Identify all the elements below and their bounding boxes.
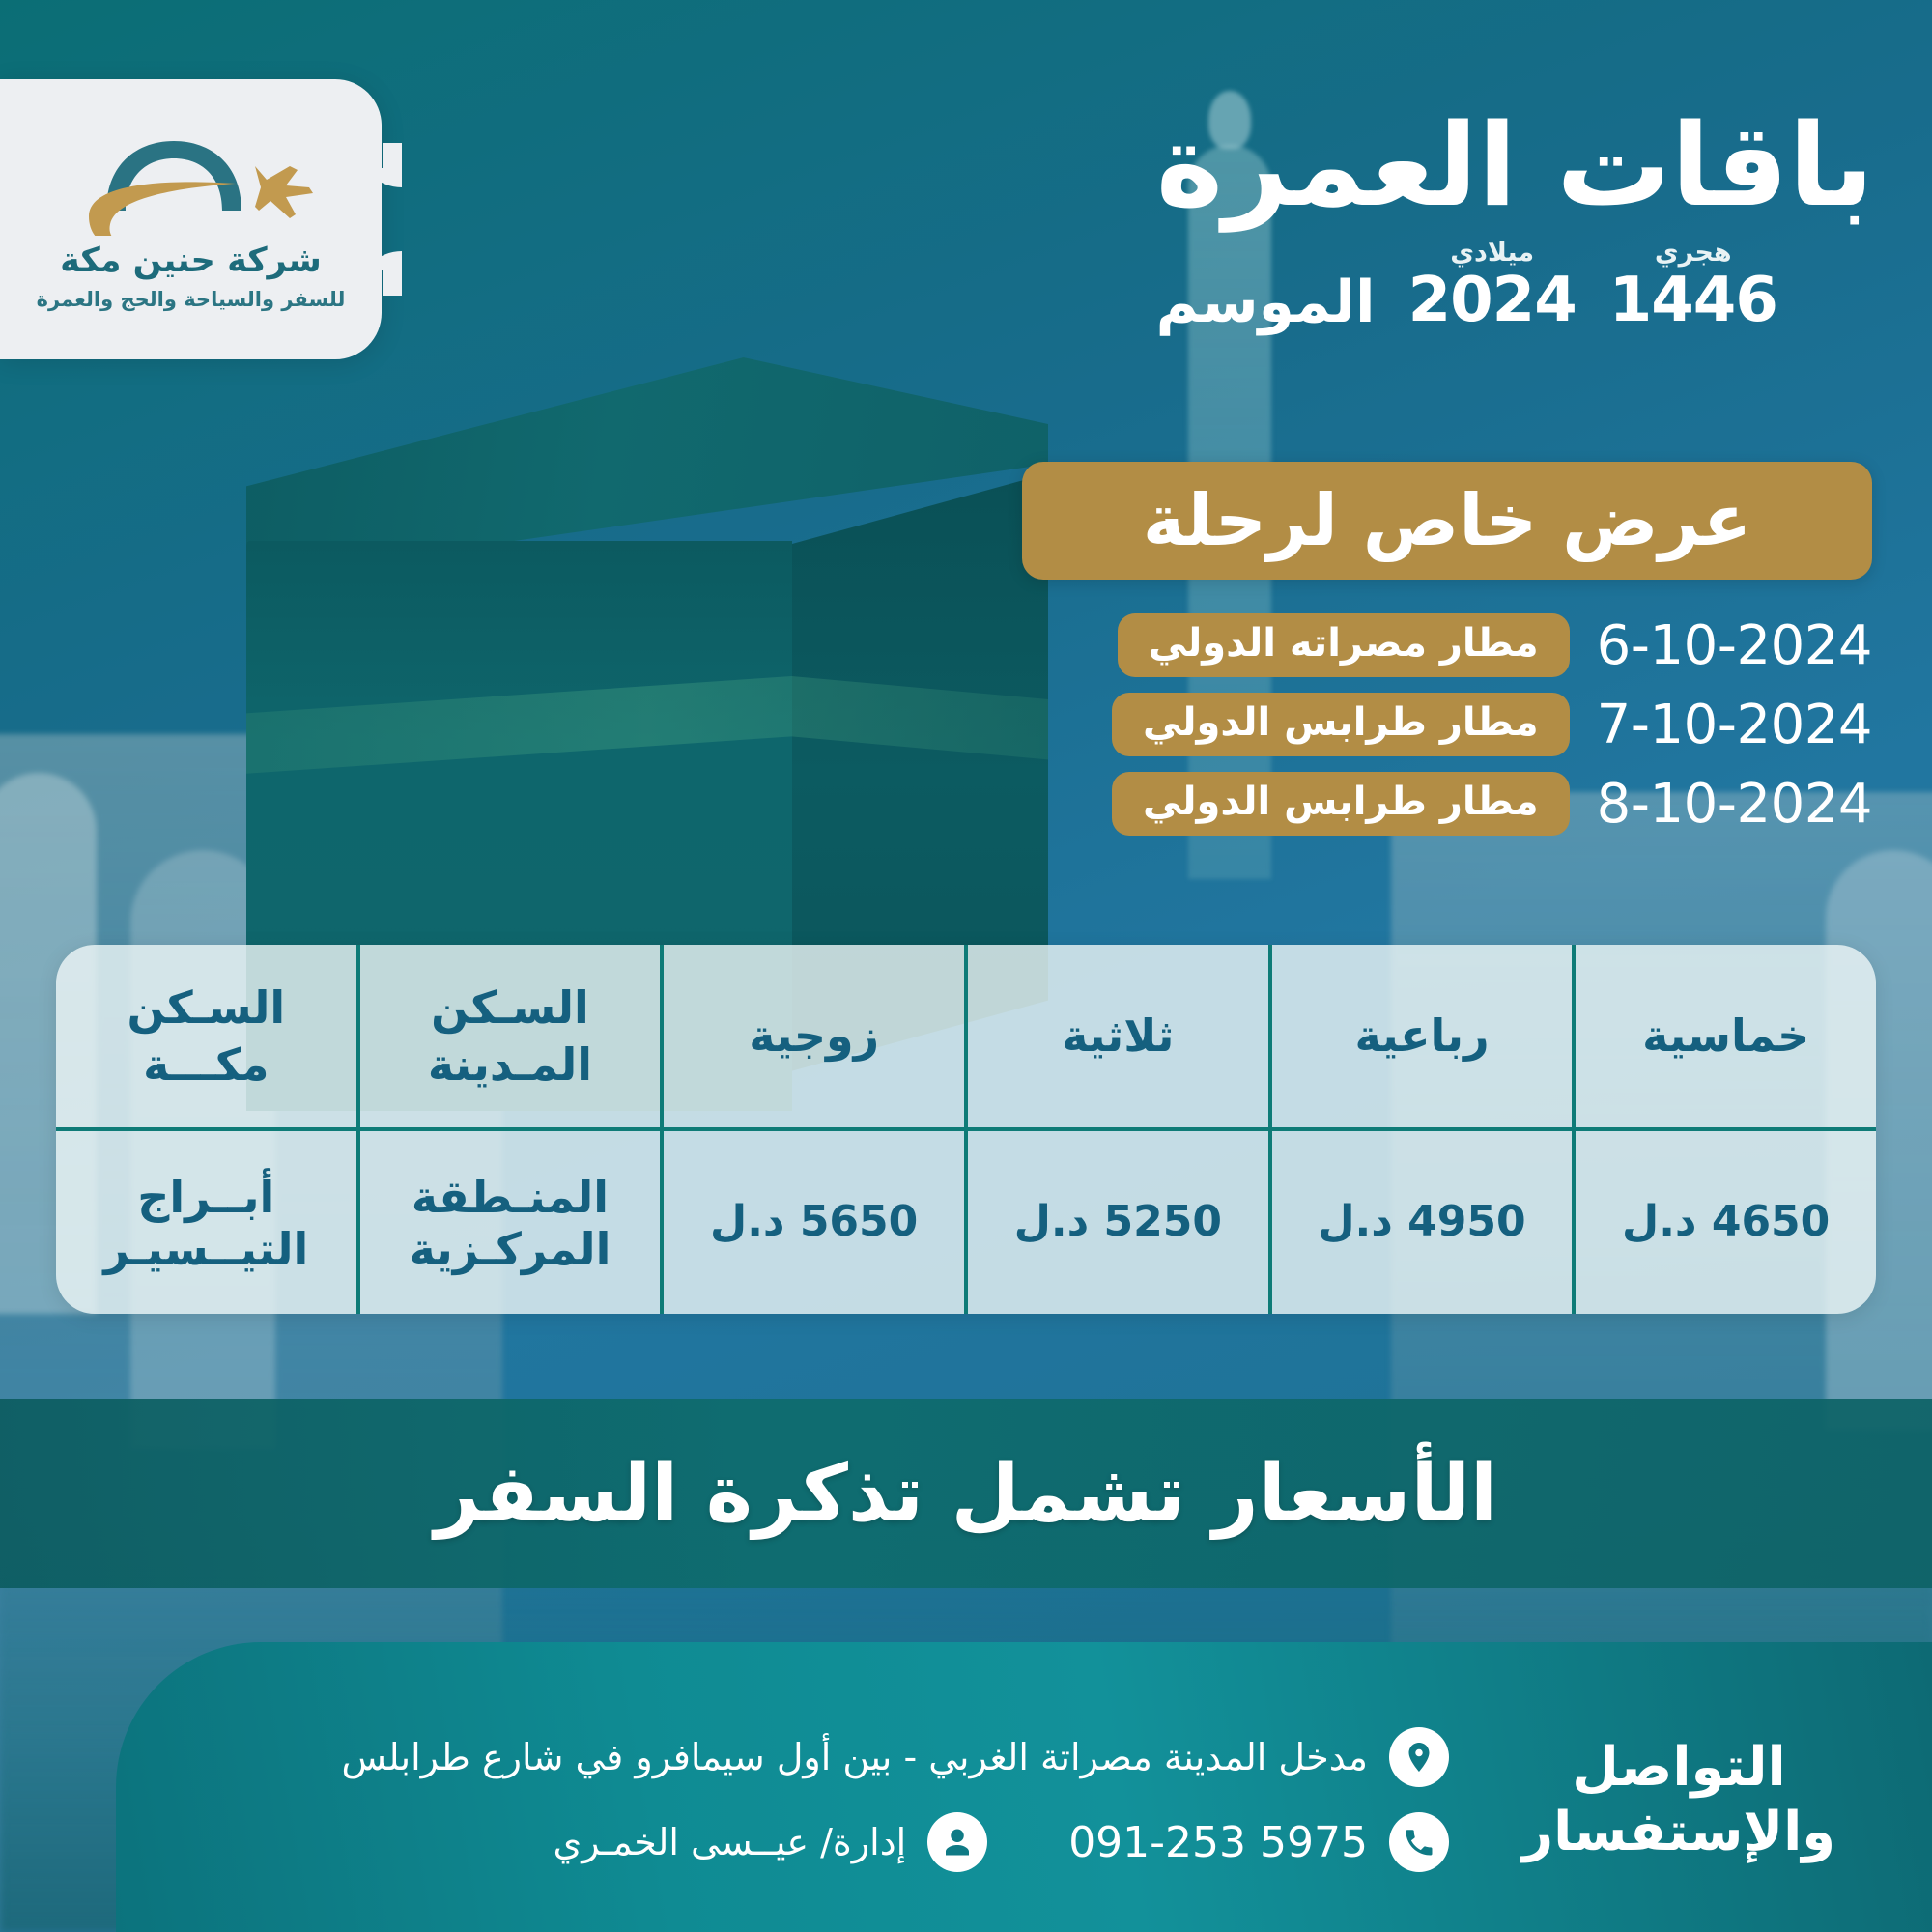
table-row: 4650 د.ل 4950 د.ل 5250 د.ل 5650 د.ل المن… [56, 1131, 1876, 1314]
flight-date: 7-10-2024 [1597, 694, 1872, 756]
price-includes-text: الأسعار تشمل تذكرة السفر [435, 1448, 1497, 1540]
phone-number[interactable]: 091-253 5975 [1068, 1818, 1368, 1867]
flight-airport: مطار طرابس الدولي [1112, 693, 1570, 756]
header-double: زوجية [660, 945, 964, 1127]
flight-airport: مطار طرابس الدولي [1112, 772, 1570, 836]
hijri-caption: هجري [1609, 240, 1777, 266]
price-quadruple: 4950 د.ل [1268, 1131, 1573, 1314]
address-line: مدخل المدينة مصراتة الغربي - بين أول سيم… [342, 1727, 1449, 1787]
company-logo-card: شركة حنين مكة للسفر والسياحة والحج والعم… [0, 79, 382, 359]
flight-row: 6-10-2024 مطار مصراته الدولي [1112, 613, 1872, 677]
season-row: هجري 1446 ميلادي 2024 الموسم [1156, 240, 1874, 331]
price-double: 5650 د.ل [660, 1131, 964, 1314]
poster-canvas: شركة حنين مكة للسفر والسياحة والحج والعم… [0, 0, 1932, 1932]
manager-name: إدارة/ عيــسى الخمـري [553, 1821, 906, 1863]
flight-airport: مطار مصراته الدولي [1118, 613, 1570, 677]
page-title: باقات العمرة [1156, 106, 1874, 226]
hijri-year: 1446 [1609, 265, 1777, 336]
company-name: شركة حنين مكة [60, 241, 322, 280]
gregorian-caption: ميلادي [1408, 240, 1577, 266]
contact-title-line2: والإستفسار [1486, 1800, 1872, 1864]
location-pin-icon [1389, 1727, 1449, 1787]
hijri-year-block: هجري 1446 [1609, 240, 1777, 331]
table-header-row: خماسية رباعية ثلاثية زوجية السـكن المـدي… [56, 945, 1876, 1131]
contact-title: التواصل والإستفسار [1486, 1735, 1872, 1864]
header-quintuple: خماسية [1572, 945, 1876, 1127]
header-quadruple: رباعية [1268, 945, 1573, 1127]
address-text: مدخل المدينة مصراتة الغربي - بين أول سيم… [342, 1736, 1368, 1778]
flight-dates-list: 6-10-2024 مطار مصراته الدولي 7-10-2024 م… [1112, 613, 1872, 836]
special-offer-text: عرض خاص لرحلة [1143, 479, 1752, 562]
gregorian-year-block: ميلادي 2024 [1408, 240, 1577, 331]
pricing-table: خماسية رباعية ثلاثية زوجية السـكن المـدي… [56, 945, 1876, 1314]
flight-row: 7-10-2024 مطار طرابس الدولي [1112, 693, 1872, 756]
header-triple: ثلاثية [964, 945, 1268, 1127]
flight-row: 8-10-2024 مطار طرابس الدولي [1112, 772, 1872, 836]
price-includes-banner: الأسعار تشمل تذكرة السفر [0, 1399, 1932, 1588]
phone-and-manager-line: 091-253 5975 إدارة/ عيــسى الخمـري [553, 1812, 1449, 1872]
medina-housing-value: المنـطقة المركـزية [356, 1131, 661, 1314]
season-label: الموسم [1156, 273, 1376, 331]
header-medina-housing: السـكن المـدينة [356, 945, 661, 1127]
mecca-housing-value: أبــراج التيــسيـر [56, 1131, 356, 1314]
price-triple: 5250 د.ل [964, 1131, 1268, 1314]
price-quintuple: 4650 د.ل [1572, 1131, 1876, 1314]
gregorian-year: 2024 [1408, 265, 1577, 336]
phone-icon[interactable] [1389, 1812, 1449, 1872]
contact-details: مدخل المدينة مصراتة الغربي - بين أول سيم… [342, 1727, 1449, 1872]
header-mecca-housing: السـكن مكـــة [56, 945, 356, 1127]
flight-date: 8-10-2024 [1597, 773, 1872, 836]
person-icon [927, 1812, 987, 1872]
dome-airplane-icon [66, 128, 317, 236]
contact-title-line1: التواصل [1486, 1735, 1872, 1800]
header-block: باقات العمرة هجري 1446 ميلادي 2024 الموس… [1156, 106, 1874, 331]
special-offer-banner: عرض خاص لرحلة [1022, 462, 1872, 580]
company-tagline: للسفر والسياحة والحج والعمرة [37, 288, 346, 311]
flight-date: 6-10-2024 [1597, 614, 1872, 677]
